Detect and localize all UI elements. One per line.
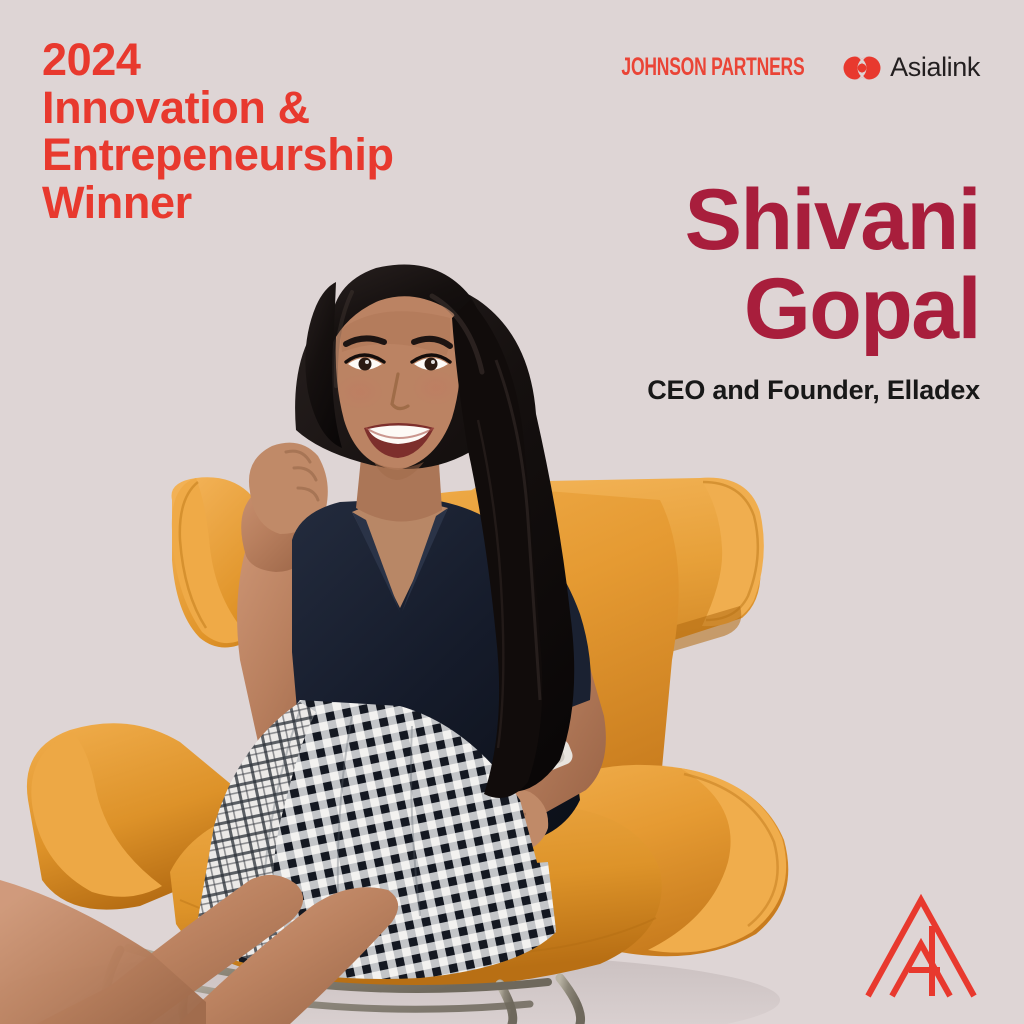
person-last-name: Gopal (420, 265, 980, 354)
a-monogram-icon (862, 894, 980, 1002)
award-headline-line-1: 2024 (42, 36, 512, 84)
asialink-circles-icon (842, 55, 882, 81)
person-first-name: Shivani (420, 176, 980, 265)
award-headline-line-2: Innovation & (42, 84, 512, 132)
asialink-wordmark: Asialink (890, 52, 980, 83)
name-block: Shivani Gopal CEO and Founder, Elladex (420, 176, 980, 406)
johnson-partners-logo: JOHNSON PARTNERS (621, 53, 804, 82)
award-poster: 2024 Innovation & Entrepeneurship Winner… (0, 0, 1024, 1024)
award-headline-line-3: Entrepeneurship (42, 131, 512, 179)
person-name: Shivani Gopal (420, 176, 980, 353)
asialink-logo: Asialink (842, 52, 980, 83)
partner-logos: JOHNSON PARTNERS Asialink (543, 52, 980, 83)
person-title: CEO and Founder, Elladex (420, 375, 980, 406)
